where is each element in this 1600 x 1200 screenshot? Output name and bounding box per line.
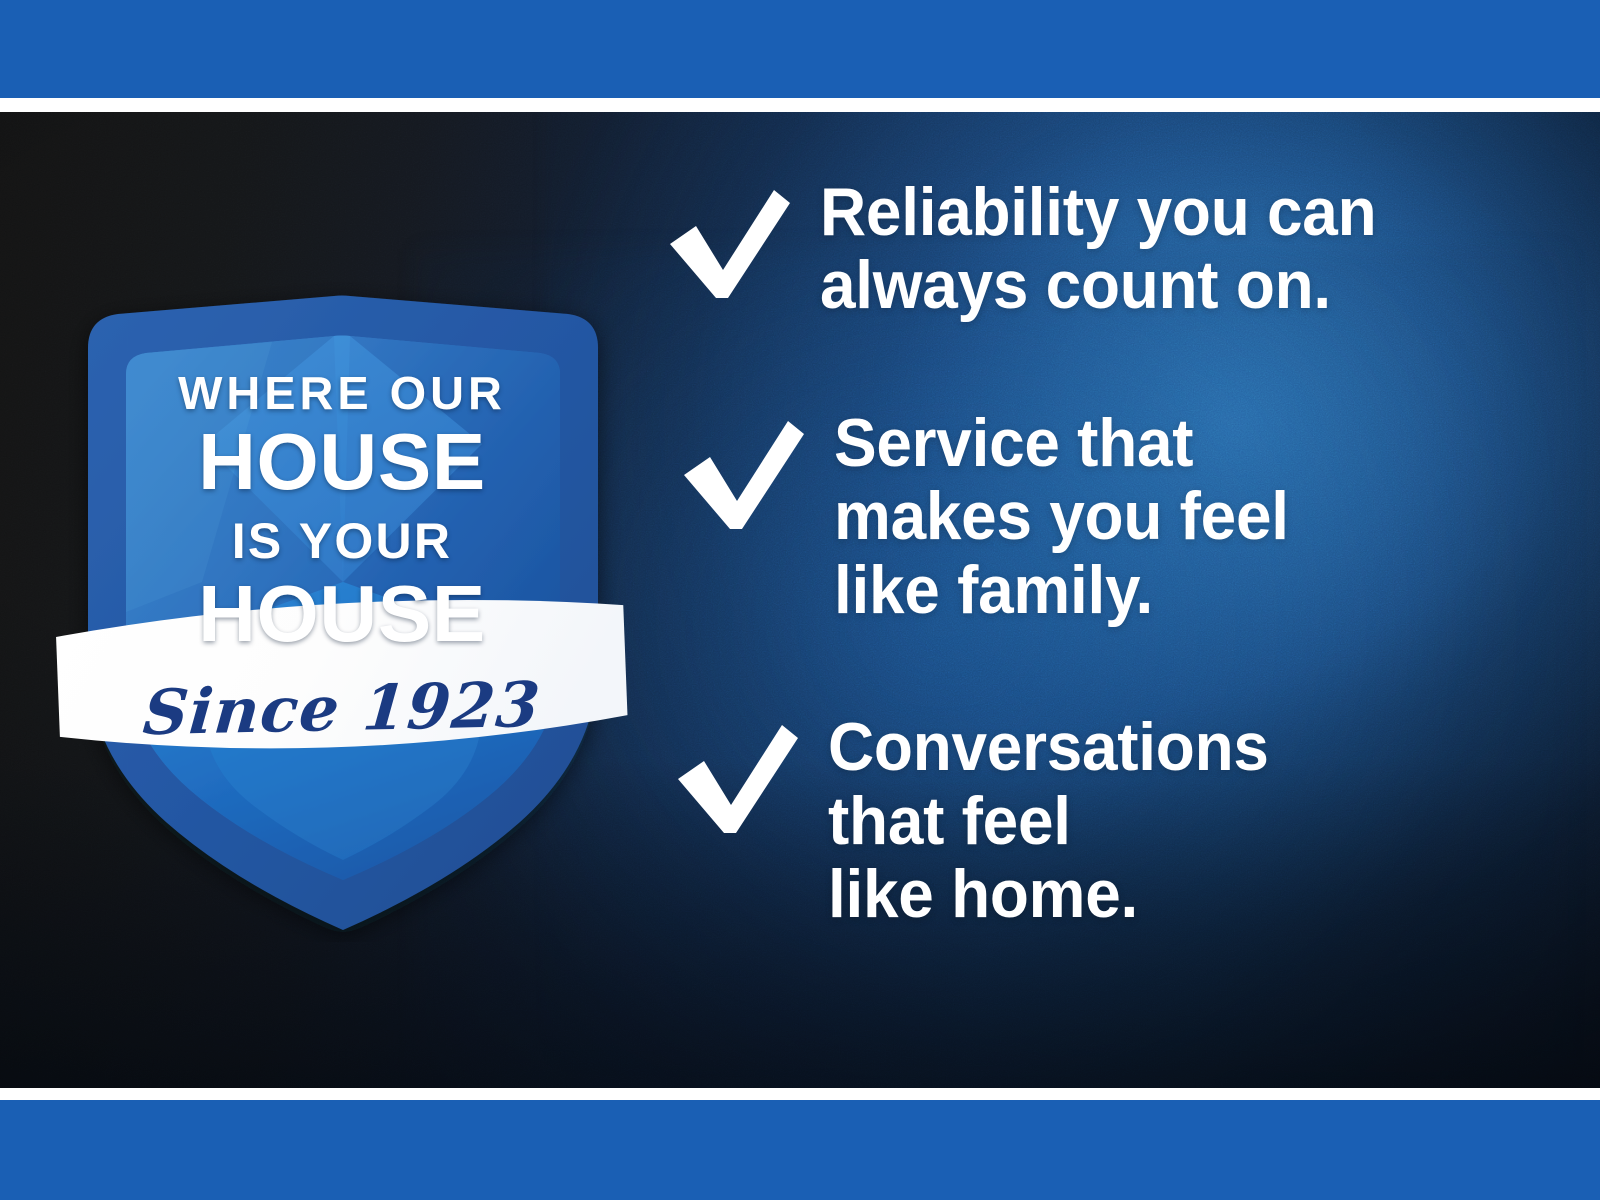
benefit-line: like family.: [834, 554, 1289, 627]
bottom-brand-band: [0, 1100, 1600, 1200]
benefit-line: always count on.: [820, 249, 1376, 322]
benefit-line: Service that: [834, 407, 1289, 480]
promo-graphic: WHERE OUR HOUSE IS YOUR HOUSE Since 1923…: [0, 0, 1600, 1200]
benefit-item-conversations: Conversations that feel like home.: [674, 711, 1546, 931]
benefit-line: Reliability you can: [820, 176, 1376, 249]
benefits-list: Reliability you can always count on. Ser…: [666, 176, 1546, 932]
brand-shield-emblem: WHERE OUR HOUSE IS YOUR HOUSE Since 1923: [52, 282, 632, 942]
check-icon: [674, 721, 802, 839]
check-icon: [680, 417, 808, 535]
benefit-item-reliability: Reliability you can always count on.: [666, 176, 1546, 323]
benefit-line: Conversations: [828, 711, 1269, 784]
benefit-text-conversations: Conversations that feel like home.: [828, 711, 1269, 931]
benefit-text-reliability: Reliability you can always count on.: [820, 176, 1376, 323]
benefit-text-service: Service that makes you feel like family.: [834, 407, 1289, 627]
check-icon: [666, 186, 794, 304]
benefit-line: like home.: [828, 858, 1269, 931]
top-brand-band: [0, 0, 1600, 98]
benefit-line: makes you feel: [834, 480, 1289, 553]
benefit-line: that feel: [828, 785, 1269, 858]
benefit-item-service: Service that makes you feel like family.: [680, 407, 1546, 627]
